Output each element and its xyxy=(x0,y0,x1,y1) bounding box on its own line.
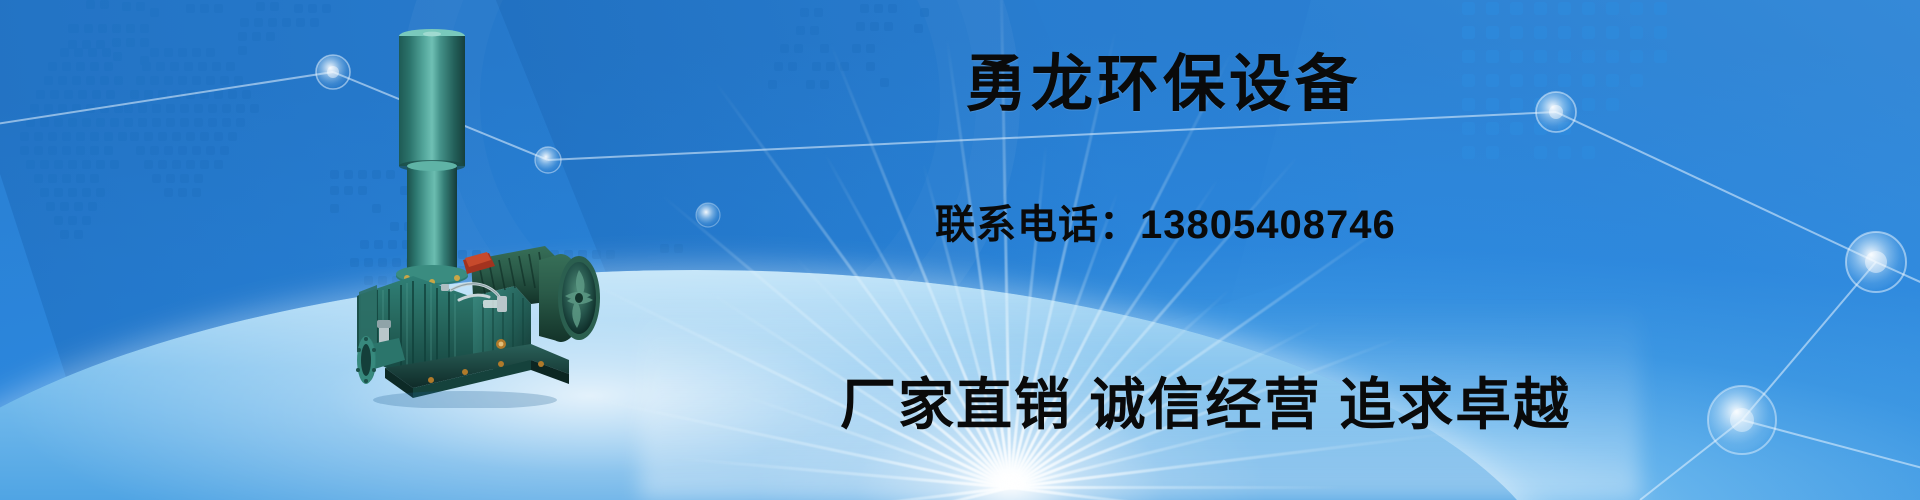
contact-phone: 联系电话：13805408746 xyxy=(935,192,1396,250)
company-title: 勇龙环保设备 xyxy=(965,33,1361,123)
promo-banner: 勇龙环保设备 联系电话：13805408746 厂家直销 诚信经营 追求卓越 xyxy=(0,0,1920,500)
roots-blower-product-image xyxy=(355,8,615,408)
slogan: 厂家直销 诚信经营 追求卓越 xyxy=(840,360,1571,441)
